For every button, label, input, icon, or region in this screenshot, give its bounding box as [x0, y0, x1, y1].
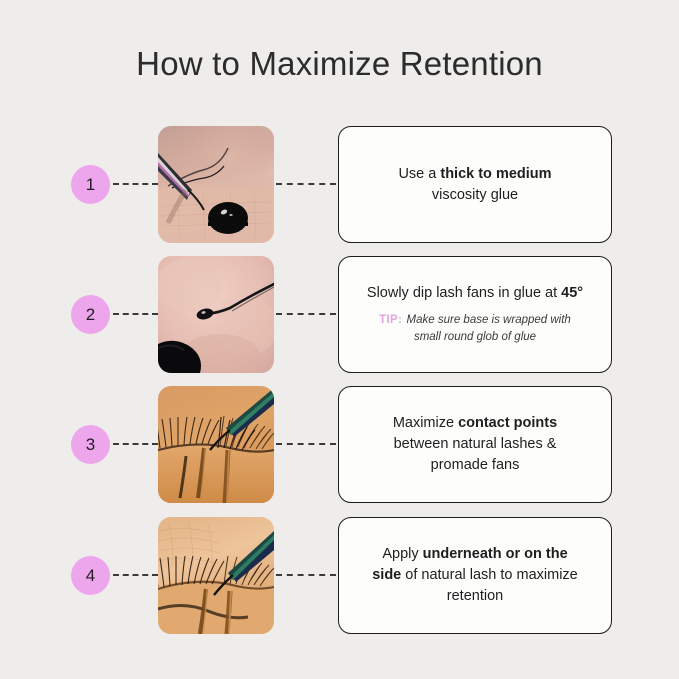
instruction-text-bold: underneath or on the: [423, 546, 568, 562]
instruction-text-plain: of natural lash to maximize: [401, 567, 578, 583]
instruction-text-plain: promade fans: [431, 457, 520, 473]
instruction-line: Slowly dip lash fans in glue at 45°: [367, 283, 583, 304]
tip-text-line-2: small round glob of glue: [379, 329, 571, 346]
connector-line-badge-to-photo-1: [113, 183, 158, 185]
instruction-text-bold: side: [372, 567, 401, 583]
instruction-line: Apply underneath or on the: [382, 544, 567, 565]
step-row-2: 2 Slowly dip lash fans in glu: [0, 256, 679, 373]
instruction-text-bold: contact points: [458, 415, 557, 431]
tweezers-holding-lash-with-glue-drop-photo: [158, 126, 274, 243]
instruction-card-3: Maximize contact points between natural …: [338, 386, 612, 503]
instruction-text-plain: viscosity glue: [432, 187, 518, 203]
connector-line-photo-to-card-1: [276, 183, 336, 185]
lash-fans-contact-points-closeup-photo: [158, 386, 274, 503]
instruction-card-4: Apply underneath or on the side of natur…: [338, 517, 612, 634]
instruction-text-bold: thick to medium: [440, 166, 551, 182]
lash-fan-dipped-in-glue-photo: [158, 256, 274, 373]
applying-fan-underneath-natural-lash-photo: [158, 517, 274, 634]
tip-text-line-1: Make sure base is wrapped with: [407, 314, 571, 326]
instruction-line: viscosity glue: [432, 185, 518, 206]
instruction-text-bold: 45°: [561, 285, 583, 301]
instruction-text-plain: Use a: [398, 166, 440, 182]
instruction-text-plain: Slowly dip lash fans in glue at: [367, 285, 561, 301]
tip-block: TIP: Make sure base is wrapped with smal…: [379, 310, 571, 346]
instruction-line: Maximize contact points: [393, 413, 557, 434]
instruction-text-plain: Apply: [382, 546, 422, 562]
instruction-text-plain: retention: [447, 588, 503, 604]
connector-line-photo-to-card-4: [276, 574, 336, 576]
step-number-badge-4: 4: [71, 556, 110, 595]
instruction-line: side of natural lash to maximize: [372, 565, 578, 586]
step-number-badge-1: 1: [71, 165, 110, 204]
step-number-badge-3: 3: [71, 425, 110, 464]
connector-line-badge-to-photo-3: [113, 443, 158, 445]
step-row-3: 3: [0, 386, 679, 503]
instruction-text-plain: between natural lashes &: [394, 436, 557, 452]
instruction-text-plain: Maximize: [393, 415, 458, 431]
step-row-4: 4: [0, 517, 679, 634]
instruction-card-2: Slowly dip lash fans in glue at 45° TIP:…: [338, 256, 612, 373]
instruction-card-1: Use a thick to medium viscosity glue: [338, 126, 612, 243]
connector-line-badge-to-photo-2: [113, 313, 158, 315]
page-title: How to Maximize Retention: [0, 42, 679, 86]
instruction-line: promade fans: [431, 455, 520, 476]
step-number-badge-2: 2: [71, 295, 110, 334]
instruction-line: retention: [447, 586, 503, 607]
connector-line-photo-to-card-2: [276, 313, 336, 315]
step-row-1: 1: [0, 126, 679, 243]
connector-line-badge-to-photo-4: [113, 574, 158, 576]
connector-line-photo-to-card-3: [276, 443, 336, 445]
tip-label: TIP:: [379, 314, 402, 326]
instruction-line: between natural lashes &: [394, 434, 557, 455]
instruction-line: Use a thick to medium: [398, 164, 551, 185]
